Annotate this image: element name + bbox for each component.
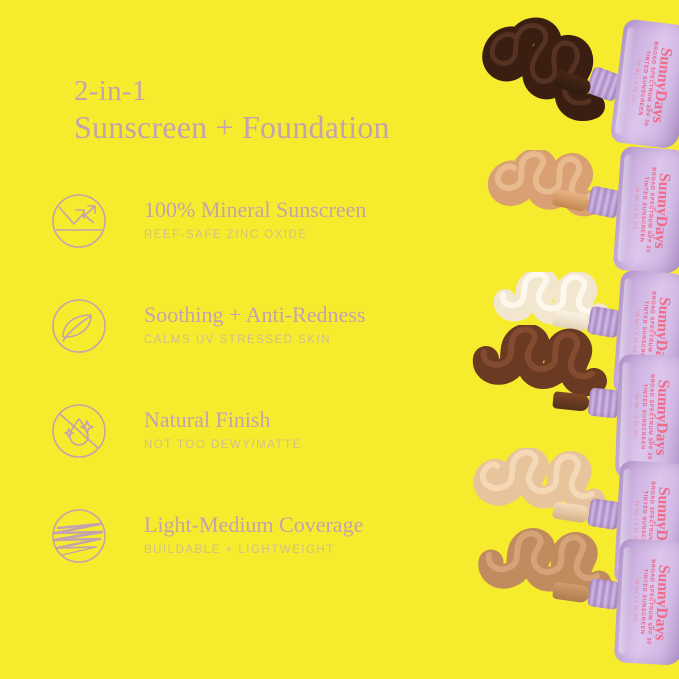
label-volume: 30 ML / 1 FL OZ. — [629, 357, 640, 475]
swatch-medium-dark-brown — [454, 325, 624, 435]
brand-name: SunnyDays — [651, 358, 672, 477]
feature-item-natural-finish: Natural Finish NOT TOO DEWY/MATTE — [50, 400, 470, 505]
label-line-2: TINTED SUNSCREEN — [635, 150, 650, 268]
uv-reflect-icon — [50, 192, 108, 250]
product-infographic: 2-in-1 Sunscreen + Foundation 100% Miner… — [0, 0, 679, 679]
feature-text-block: Soothing + Anti-Redness CALMS UV STRESSE… — [144, 295, 365, 347]
label-line-1: BROAD SPECTRUM SPF 30 — [639, 25, 660, 143]
label-line-2: TINTED SUNSCREEN — [637, 358, 648, 476]
label-volume: 30 ML / 1 FL OZ. — [628, 542, 641, 660]
feature-list: 100% Mineral Sunscreen REEF-SAFE ZINC OX… — [50, 190, 470, 610]
brand-name: SunnyDays — [649, 151, 674, 270]
feature-text-block: Light-Medium Coverage BUILDABLE + LIGHTW… — [144, 505, 363, 557]
bottle-label: SunnyDays BROAD SPECTRUM SPF 30 TINTED S… — [629, 357, 672, 476]
no-dewy-droplet-icon — [50, 402, 108, 460]
bottle-body: SunnyDays BROAD SPECTRUM SPF 30 TINTED S… — [614, 538, 679, 665]
label-volume: 30 ML / 1 FL OZ. — [624, 23, 645, 141]
bottle-body: SunnyDays BROAD SPECTRUM SPF 30 TINTED S… — [613, 146, 679, 274]
feature-title: Natural Finish — [144, 407, 302, 433]
headline-line-1: 2-in-1 — [74, 74, 494, 108]
label-volume: 30 ML / 1 FL OZ. — [627, 150, 642, 268]
feature-item-mineral-sunscreen: 100% Mineral Sunscreen REEF-SAFE ZINC OX… — [50, 190, 470, 295]
leaf-icon — [50, 297, 108, 355]
feature-title: Light-Medium Coverage — [144, 512, 363, 538]
feature-subtitle: NOT TOO DEWY/MATTE — [144, 438, 302, 452]
coverage-zigzag-icon — [50, 507, 108, 565]
bottle-label: SunnyDays BROAD SPECTRUM SPF 30 TINTED S… — [627, 150, 674, 270]
headline-line-2: Sunscreen + Foundation — [74, 108, 494, 146]
label-line-1: BROAD SPECTRUM SPF 30 — [644, 358, 655, 476]
bottle-nozzle-tip — [552, 391, 590, 412]
feature-text-block: Natural Finish NOT TOO DEWY/MATTE — [144, 400, 302, 452]
bottle-label: SunnyDays BROAD SPECTRUM SPF 30 TINTED S… — [624, 23, 677, 145]
feature-subtitle: CALMS UV STRESSED SKIN — [144, 333, 365, 347]
feature-text-block: 100% Mineral Sunscreen REEF-SAFE ZINC OX… — [144, 190, 366, 242]
bottle-label: SunnyDays BROAD SPECTRUM SPF 30 TINTED S… — [628, 542, 673, 662]
label-line-2: TINTED SUNSCREEN — [636, 542, 649, 660]
feature-item-coverage: Light-Medium Coverage BUILDABLE + LIGHTW… — [50, 505, 470, 610]
feature-item-soothing: Soothing + Anti-Redness CALMS UV STRESSE… — [50, 295, 470, 400]
feature-subtitle: BUILDABLE + LIGHTWEIGHT — [144, 543, 363, 557]
brand-name: SunnyDays — [646, 26, 677, 145]
product-bottle-column: SunnyDays BROAD SPECTRUM SPF 30 TINTED S… — [479, 0, 679, 679]
label-line-2: TINTED SUNSCREEN — [632, 24, 653, 142]
bottle-collar — [588, 388, 621, 419]
feature-title: 100% Mineral Sunscreen — [144, 197, 366, 223]
feature-title: Soothing + Anti-Redness — [144, 302, 365, 328]
label-line-1: BROAD SPECTRUM SPF 30 — [642, 151, 657, 269]
headline-block: 2-in-1 Sunscreen + Foundation — [74, 74, 494, 146]
brand-name: SunnyDays — [650, 543, 673, 662]
label-line-1: BROAD SPECTRUM SPF 30 — [643, 543, 656, 661]
feature-subtitle: REEF-SAFE ZINC OXIDE — [144, 228, 366, 242]
